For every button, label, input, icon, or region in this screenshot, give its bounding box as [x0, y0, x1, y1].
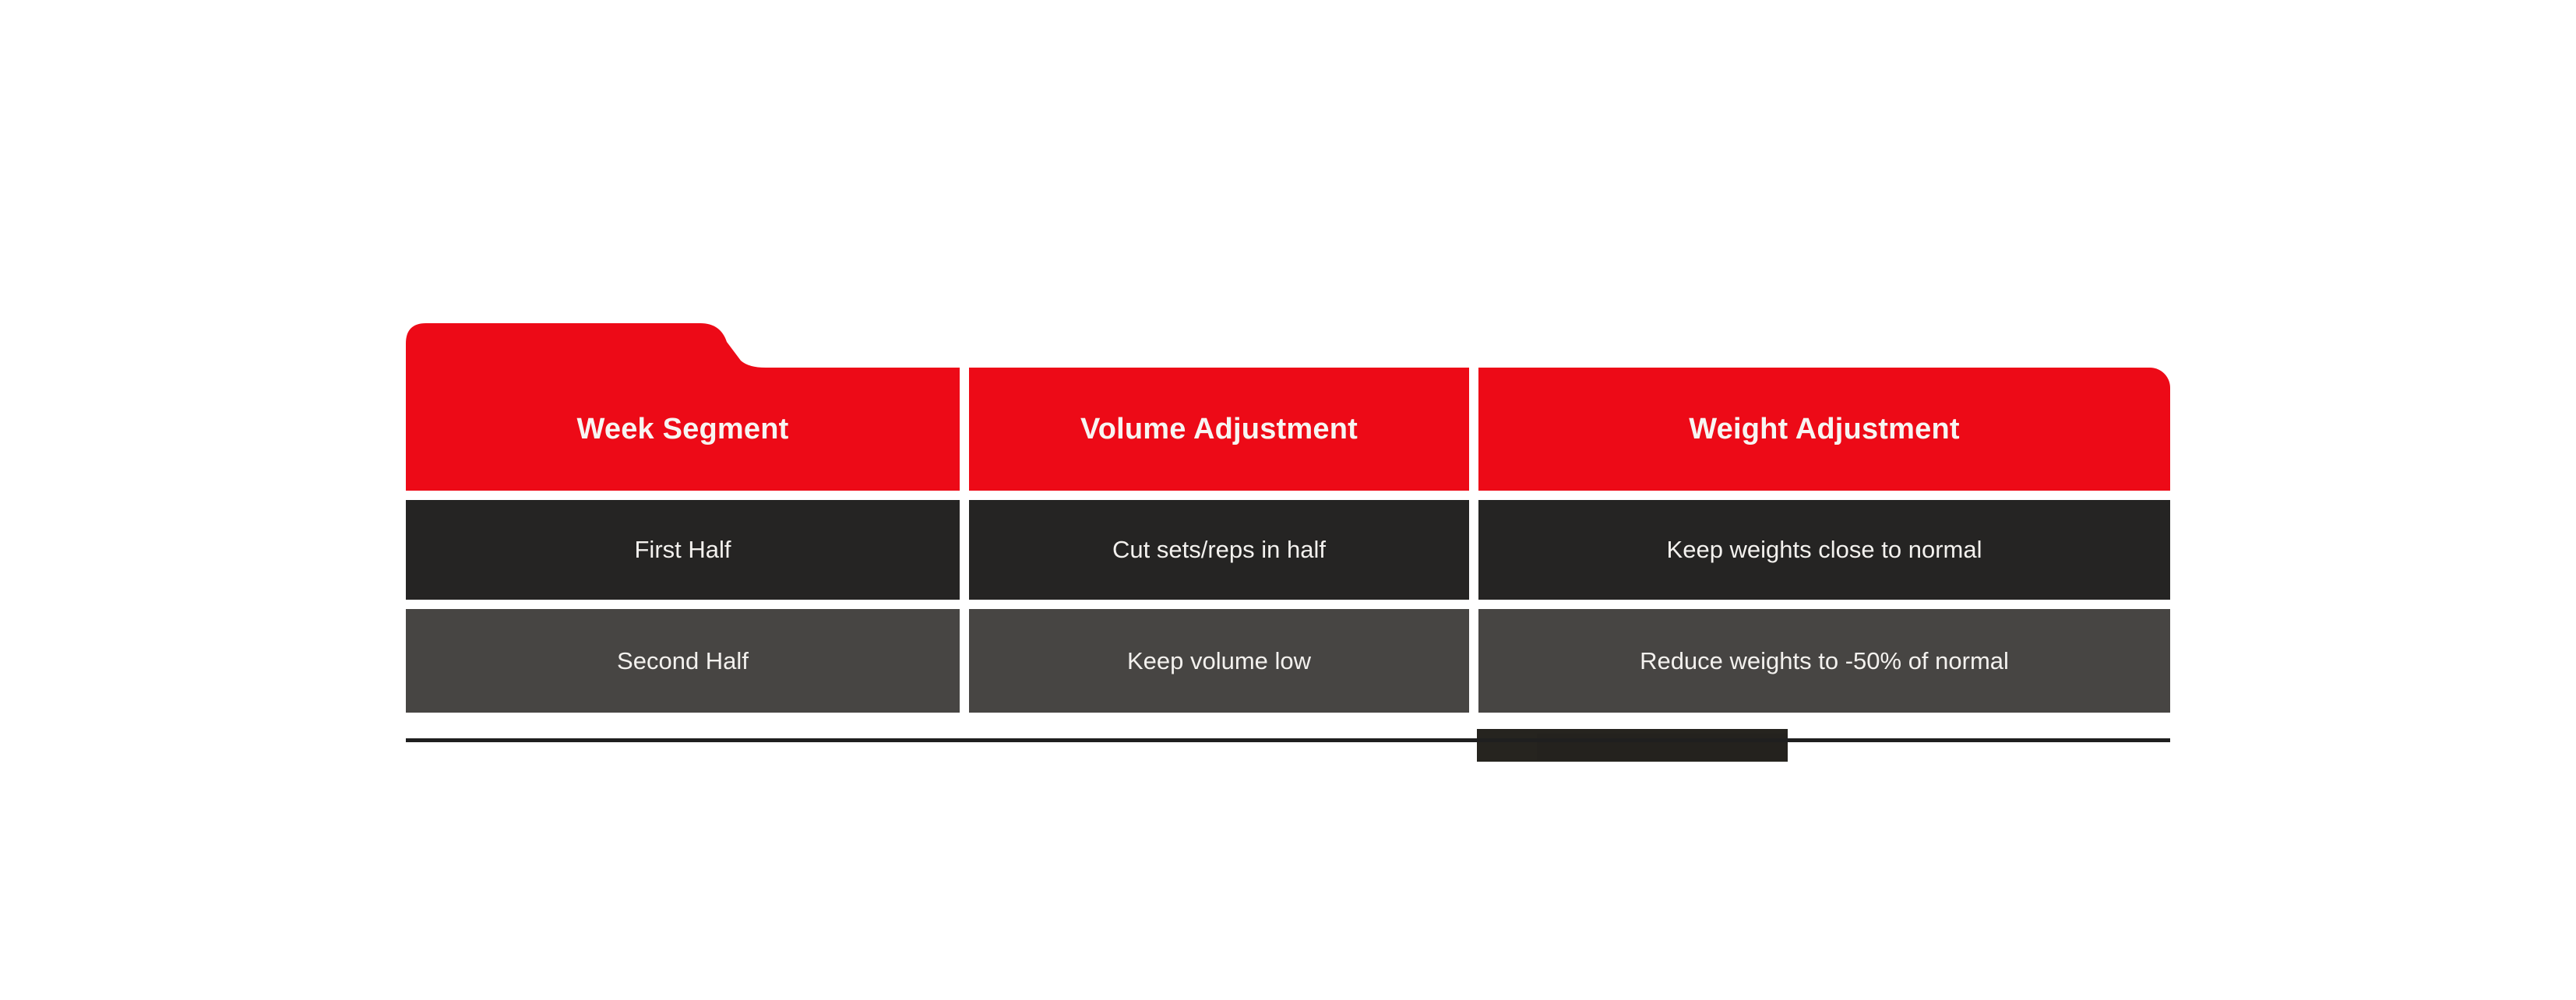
table-row[interactable]: First Half Cut sets/reps in half Keep we… [406, 500, 2170, 600]
cell-text-volume-adjustment: Cut sets/reps in half [1112, 536, 1326, 564]
table-header-row: Week Segment Volume Adjustment Weight Ad… [406, 323, 2170, 491]
header-cell-week-segment[interactable]: Week Segment [406, 323, 960, 491]
table-row[interactable]: Second Half Keep volume low Reduce weigh… [406, 609, 2170, 713]
page-canvas: Week Segment Volume Adjustment Weight Ad… [0, 0, 2576, 1000]
cell-weight-adjustment[interactable]: Keep weights close to normal [1478, 500, 2170, 600]
cell-weight-adjustment[interactable]: Reduce weights to -50% of normal [1478, 609, 2170, 713]
footer-rule-divider [406, 738, 2170, 742]
cell-text-weight-adjustment: Reduce weights to -50% of normal [1640, 647, 2009, 675]
header-cell-weight-adjustment[interactable]: Weight Adjustment [1478, 368, 2170, 491]
header-label-wrap-1: Week Segment [406, 368, 960, 491]
cell-text-volume-adjustment: Keep volume low [1127, 647, 1311, 675]
cell-volume-adjustment[interactable]: Cut sets/reps in half [969, 500, 1469, 600]
header-label-volume-adjustment: Volume Adjustment [1080, 413, 1358, 446]
comparison-table: Week Segment Volume Adjustment Weight Ad… [406, 323, 2170, 744]
cell-week-segment[interactable]: First Half [406, 500, 960, 600]
cell-text-week-segment: Second Half [617, 647, 749, 675]
header-label-weight-adjustment: Weight Adjustment [1689, 413, 1960, 446]
cell-volume-adjustment[interactable]: Keep volume low [969, 609, 1469, 713]
header-cell-volume-adjustment[interactable]: Volume Adjustment [969, 368, 1469, 491]
cell-week-segment[interactable]: Second Half [406, 609, 960, 713]
cell-text-week-segment: First Half [635, 536, 731, 564]
header-label-week-segment: Week Segment [576, 413, 788, 446]
cell-text-weight-adjustment: Keep weights close to normal [1667, 536, 1982, 564]
